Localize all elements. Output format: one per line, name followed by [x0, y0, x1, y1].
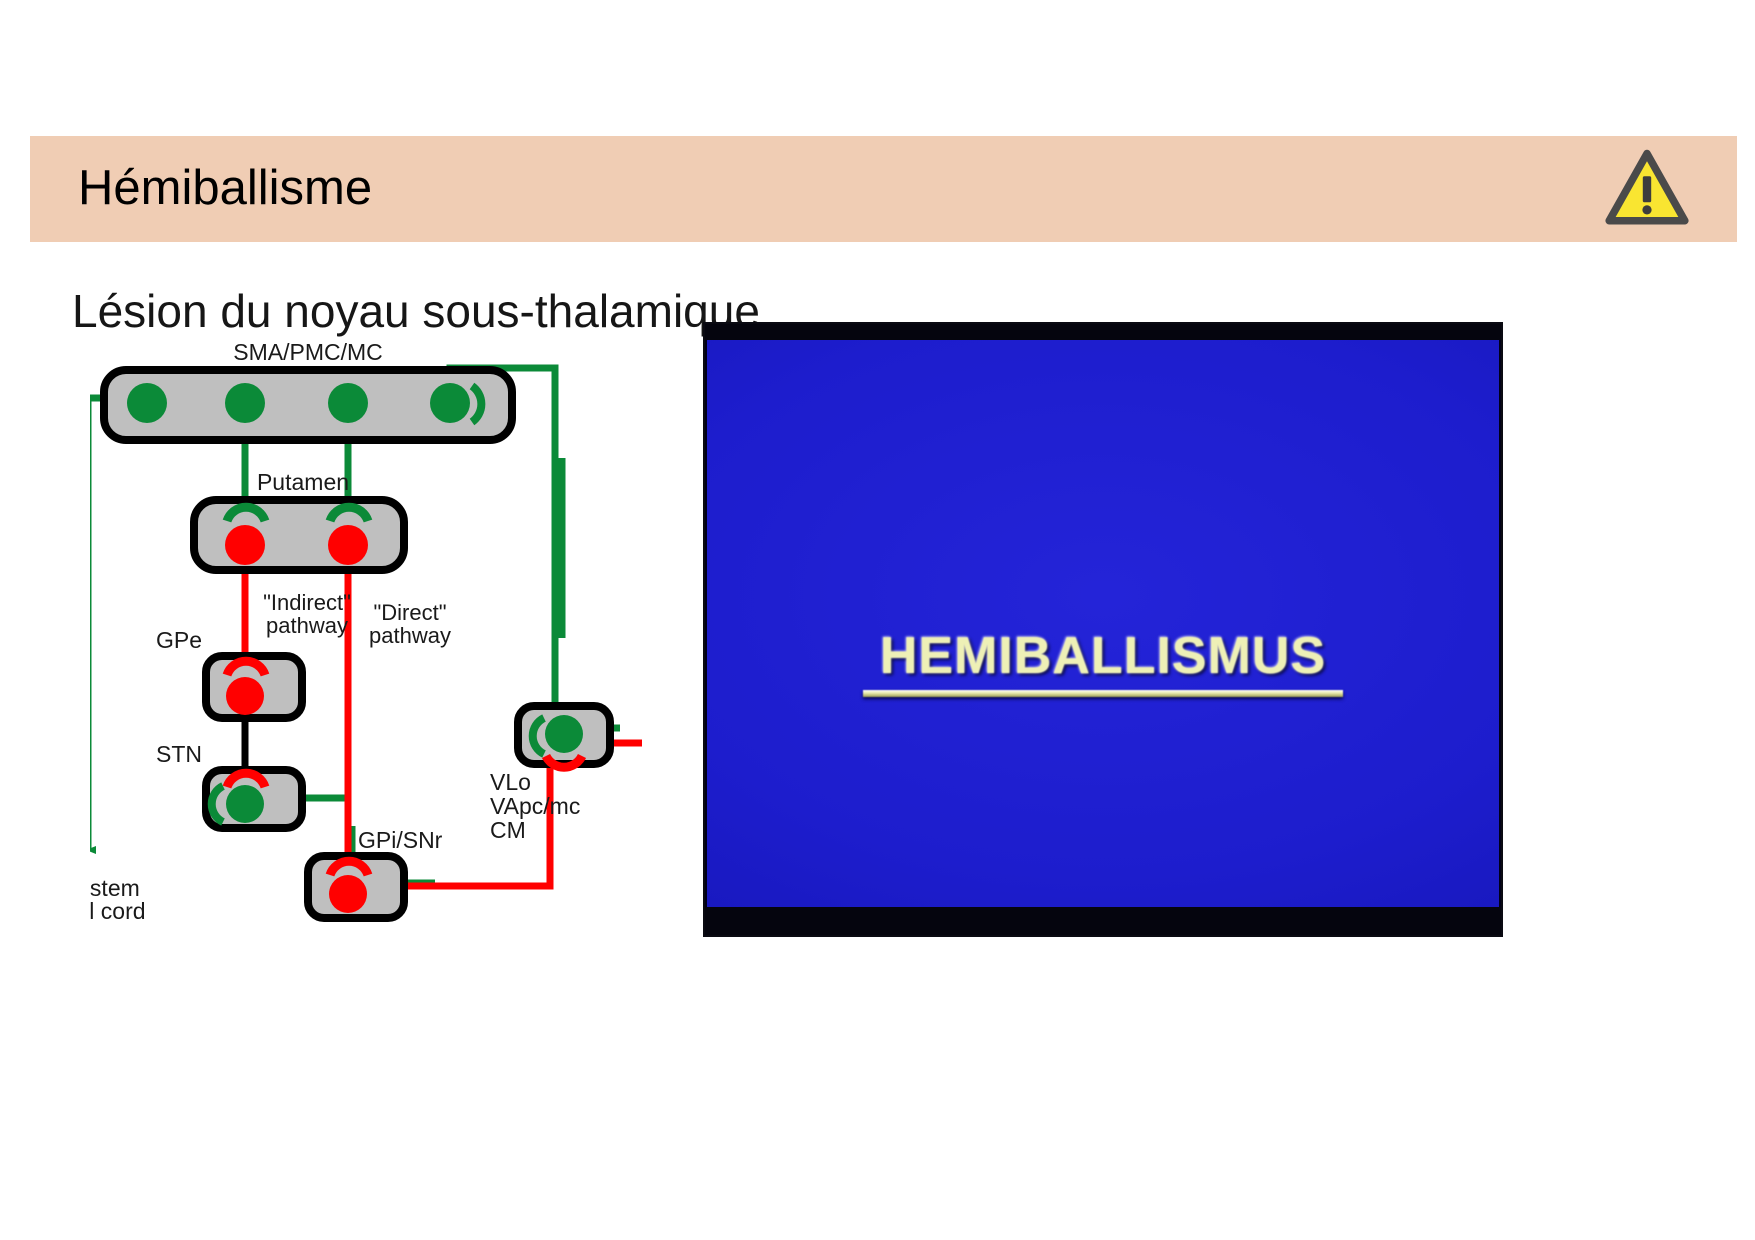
- basal-ganglia-circuit-diagram: SMA/PMC/MC Putamen GPe STN GPi/SNr x "In…: [90, 338, 700, 938]
- subtitle-text: Lésion du noyau sous-thalamique: [72, 283, 760, 339]
- video-caption-text: HEMIBALLISMUS: [880, 628, 1326, 684]
- label-thalamus-line3: CM: [490, 817, 526, 843]
- label-thalamus-line2: VApc/mc: [490, 793, 580, 819]
- video-letterbox-top: [705, 324, 1501, 340]
- label-putamen: Putamen: [257, 469, 349, 495]
- nucleus-putamen: [194, 500, 404, 570]
- label-thalamus-line1: VLo: [490, 769, 531, 795]
- label-direct-pathway-line1: "Direct": [373, 600, 446, 625]
- video-letterbox-bottom: [705, 907, 1501, 935]
- video-caption-wrap: HEMIBALLISMUS: [707, 628, 1499, 697]
- page-title: Hémiballisme: [78, 158, 372, 218]
- video-screen[interactable]: HEMIBALLISMUS: [707, 338, 1499, 909]
- warning-triangle-icon: [1605, 148, 1689, 228]
- label-stn: STN: [156, 741, 202, 767]
- header-banner: Hémiballisme: [30, 136, 1737, 242]
- label-direct-pathway-line2: pathway: [369, 623, 451, 648]
- video-caption-underline: [863, 690, 1343, 697]
- label-gpi-snr: GPi/SNr: [358, 827, 443, 853]
- video-panel[interactable]: HEMIBALLISMUS: [703, 322, 1503, 937]
- label-cortex: SMA/PMC/MC: [233, 339, 383, 365]
- label-spinal-cord: Spinal cord: [90, 898, 146, 924]
- label-indirect-pathway-line2: pathway: [266, 613, 348, 638]
- label-gpe: GPe: [156, 627, 202, 653]
- label-indirect-pathway-line1: "Indirect": [263, 590, 351, 615]
